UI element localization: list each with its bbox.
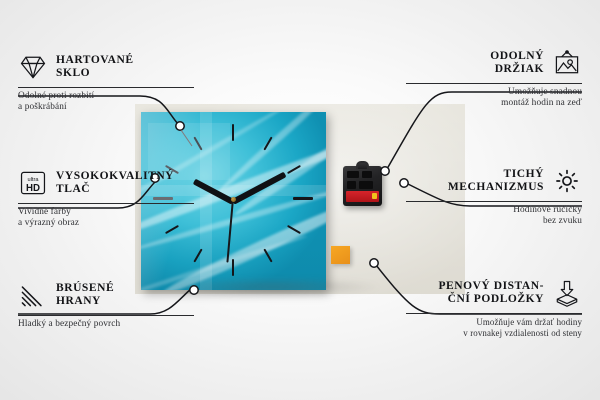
callout-description: Umožňuje snadnou montáž hodin na zeď [406, 87, 582, 110]
callout-hardened-glass[interactable]: HARTOVANÉ SKLO Odolné proti rozbití a po… [18, 50, 194, 114]
clock-center-pin [231, 197, 236, 202]
foam-spacer-pad [331, 246, 350, 264]
callout-title: HARTOVANÉ SKLO [56, 54, 134, 81]
mechanism-hanger [356, 161, 369, 169]
glass-reflection-vertical [200, 112, 212, 290]
callout-durable-holder[interactable]: ODOLNÝ DRŽIAK Umožňuje snadnou montáž ho… [406, 46, 582, 110]
callout-description: Hodinové ručičky bez zvuku [406, 205, 582, 228]
clock-tick-3 [293, 197, 313, 200]
clock-movement-mechanism [343, 166, 382, 206]
callout-underline [18, 87, 194, 88]
mechanism-slot-3 [347, 181, 356, 189]
callout-title: PENOVÝ DISTAN- ČNÍ PODLOŽKY [438, 280, 544, 307]
mechanism-slot-2 [362, 171, 372, 178]
svg-text:HD: HD [26, 183, 40, 194]
callout-underline [18, 315, 194, 316]
callout-underline [18, 203, 194, 204]
callout-description: Umožňuje vám držať hodiny v rovnakej vzd… [406, 317, 582, 340]
callout-title: VYSOKOKVALITNÝ TLAČ [56, 170, 174, 197]
callout-polished-edges[interactable]: BRÚSENÉ HRANY Hladký a bezpečný povrch [18, 278, 194, 330]
callout-underline [406, 83, 582, 84]
mechanism-battery [346, 191, 379, 202]
press-down-layers-icon [552, 279, 582, 307]
callout-silent-mechanism[interactable]: TICHÝ MECHANIZMUS Hodinové ručičky bez z… [406, 164, 582, 228]
clock-tick-12 [232, 124, 234, 141]
picture-frame-hanging-icon [552, 49, 582, 77]
mechanism-slot-1 [347, 171, 359, 178]
diamond-icon [18, 53, 48, 81]
diagonal-lines-icon [18, 281, 48, 309]
callout-description: Odolné proti rozbití a poškrábání [18, 91, 194, 114]
callout-title: ODOLNÝ DRŽIAK [490, 50, 544, 77]
gear-icon [552, 167, 582, 195]
callout-title: TICHÝ MECHANIZMUS [448, 168, 544, 195]
callout-underline [406, 313, 582, 314]
callout-description: Hladký a bezpečný povrch [18, 319, 194, 330]
callout-description: Vividné farby a výrazný obraz [18, 207, 194, 230]
callout-underline [406, 201, 582, 202]
callout-foam-spacers[interactable]: PENOVÝ DISTAN- ČNÍ PODLOŽKY Umožňuje vám… [406, 276, 582, 340]
callout-high-quality-print[interactable]: ultra HD VYSOKOKVALITNÝ TLAČ Vividné far… [18, 166, 194, 230]
callout-title: BRÚSENÉ HRANY [56, 282, 114, 309]
infographic-canvas: HARTOVANÉ SKLO Odolné proti rozbití a po… [0, 0, 600, 400]
ultra-hd-icon: ultra HD [18, 169, 48, 197]
mechanism-slot-4 [359, 181, 373, 189]
